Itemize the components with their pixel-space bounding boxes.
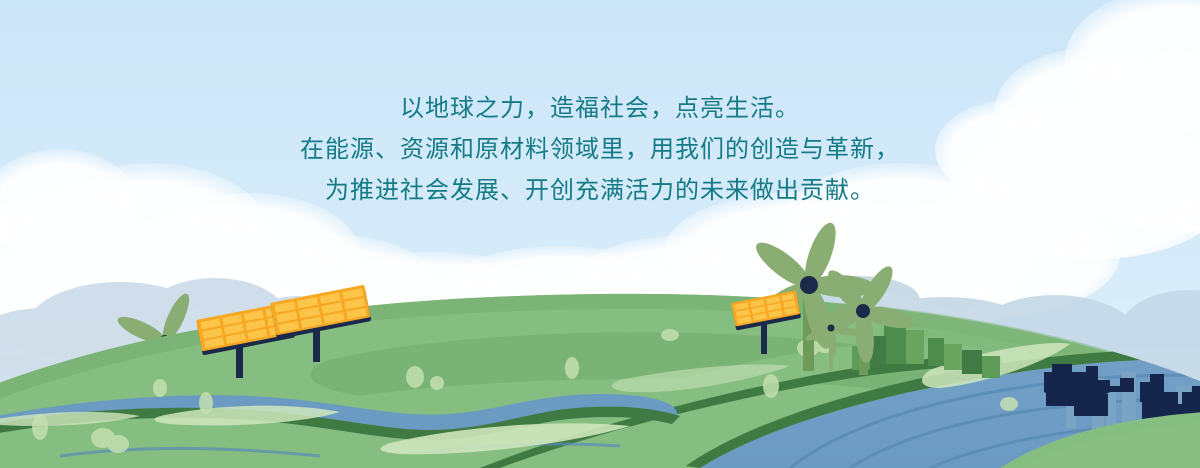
windmill-right-tiny-hub [828, 325, 835, 332]
windmill-right-large-hub [800, 276, 818, 294]
eco-energy-hero-banner: 以地球之力，造福社会，点亮生活。 在能源、资源和原材料领域里，用我们的创造与革新… [0, 0, 1200, 468]
windmill-right-medium-hub [856, 304, 870, 318]
solar-panel-right-post [761, 322, 767, 354]
illustration-scene [0, 0, 1200, 468]
